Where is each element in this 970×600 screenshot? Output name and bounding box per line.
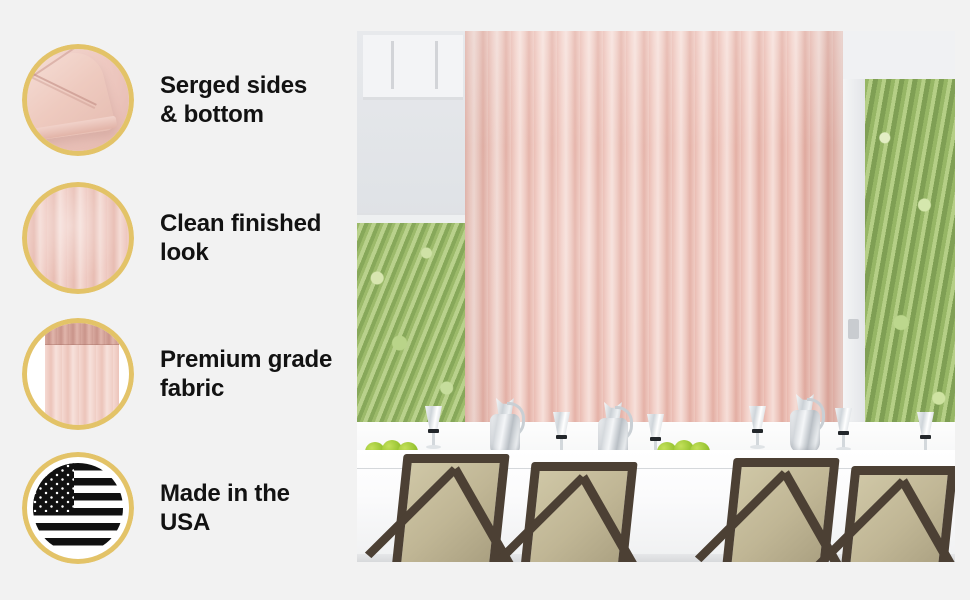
feature-list: Serged sides & bottom Clean finished loo… xyxy=(0,0,357,600)
crystal-goblet xyxy=(835,408,852,452)
badge-inner xyxy=(27,49,129,151)
usa-flag-icon xyxy=(22,452,134,564)
product-lifestyle-photo xyxy=(357,31,955,562)
flag-art xyxy=(27,457,129,559)
curtain-rod-pocket xyxy=(45,323,118,345)
goblet-foot xyxy=(426,445,441,449)
feature-item-premium-grade-fabric: Premium grade fabric xyxy=(22,318,352,430)
pleated-fabric-icon xyxy=(22,182,134,294)
feature-item-made-in-the-usa: Made in the USA xyxy=(22,452,352,564)
cross-back-chair xyxy=(397,454,503,562)
cross-back-chair xyxy=(727,458,833,562)
crystal-goblet xyxy=(425,406,442,450)
bottom-margin-band xyxy=(0,562,970,600)
goblet-bowl xyxy=(749,406,766,430)
window-frame-left xyxy=(363,35,463,100)
badge-inner xyxy=(27,323,129,425)
goblet-bowl xyxy=(425,406,442,430)
fabric-pleats xyxy=(27,187,129,289)
banquet-table-scene xyxy=(357,377,955,562)
crystal-goblet xyxy=(749,406,766,450)
cross-back-chair xyxy=(845,466,951,562)
goblet-foot xyxy=(750,445,765,449)
feature-label: Made in the USA xyxy=(160,479,290,537)
goblet-bowl xyxy=(647,414,664,438)
goblet-bowl xyxy=(553,412,570,436)
curtain-icon-art xyxy=(27,323,129,425)
pitcher-body xyxy=(790,410,820,454)
goblet-bowl xyxy=(835,408,852,432)
door-hinge xyxy=(848,319,859,339)
flag-canton xyxy=(33,463,74,511)
badge-inner xyxy=(27,457,129,559)
feature-label: Premium grade fabric xyxy=(160,345,332,403)
curtain-panel-icon xyxy=(22,318,134,430)
feature-item-clean-finished-look: Clean finished look xyxy=(22,182,352,294)
feature-label: Clean finished look xyxy=(160,209,321,267)
feature-label: Serged sides & bottom xyxy=(160,71,307,129)
chair-back xyxy=(838,466,955,562)
chair-cross-brace xyxy=(899,478,955,562)
door-header xyxy=(843,31,955,82)
flag-stars xyxy=(33,463,74,511)
cross-back-chair xyxy=(525,462,631,562)
promo-image-canvas: Serged sides & bottom Clean finished loo… xyxy=(0,0,970,600)
flag-disc xyxy=(33,463,123,553)
chair-back xyxy=(720,458,839,562)
silver-pitcher xyxy=(487,396,523,458)
chair-back xyxy=(518,462,637,562)
folded-fabric-corner-icon xyxy=(22,44,134,156)
feature-item-serged-sides-bottom: Serged sides & bottom xyxy=(22,44,352,156)
silver-pitcher xyxy=(787,392,823,454)
chair-back xyxy=(390,454,509,562)
goblet-bowl xyxy=(917,412,934,436)
badge-inner xyxy=(27,187,129,289)
